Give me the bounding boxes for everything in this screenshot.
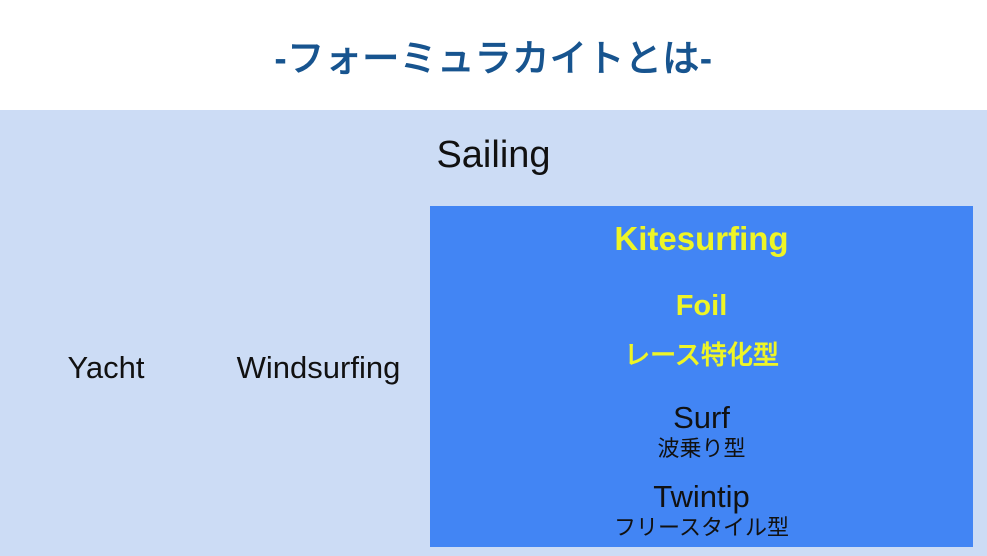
sailing-label-text: Sailing xyxy=(436,136,550,174)
discipline-twintip-name: Twintip xyxy=(430,481,973,512)
category-yacht: Yacht xyxy=(0,352,212,383)
title-band: -フォーミュラカイトとは- xyxy=(0,0,987,110)
discipline-surf-name: Surf xyxy=(430,402,973,433)
sailing-label: Sailing xyxy=(0,136,987,174)
discipline-surf-subtitle: 波乗り型 xyxy=(430,438,973,460)
page-title: -フォーミュラカイトとは- xyxy=(274,40,712,77)
discipline-foil-subtitle: レース特化型 xyxy=(430,342,973,368)
slide-canvas: -フォーミュラカイトとは- Sailing Yacht Windsurfing … xyxy=(0,0,987,556)
discipline-foil-name: Foil xyxy=(430,292,973,321)
kitesurfing-box: Kitesurfing Foil レース特化型 Surf 波乗り型 Twinti… xyxy=(430,206,973,547)
kitesurfing-heading: Kitesurfing xyxy=(430,222,973,255)
discipline-twintip-subtitle: フリースタイル型 xyxy=(430,517,973,539)
category-windsurfing: Windsurfing xyxy=(196,352,441,383)
